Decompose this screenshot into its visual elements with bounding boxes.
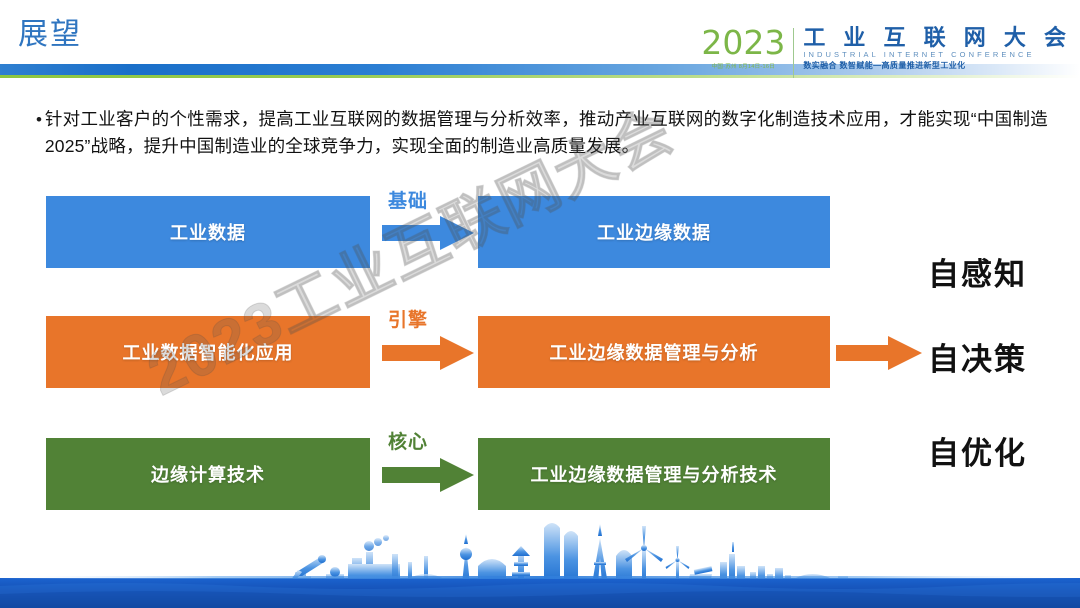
arrow-right-icon-outcome [836, 336, 922, 370]
outcome-self-decision: 自决策 [928, 334, 1027, 379]
diagram-box-intelligent-application: 工业数据智能化应用 [46, 316, 370, 388]
outcome-self-perception: 自感知 [928, 249, 1027, 294]
arrow-label-foundation: 基础 [388, 186, 428, 213]
skyline-illustration [0, 516, 1080, 608]
diagram-box-edge-computing-technology: 边缘计算技术 [46, 438, 370, 510]
diagram-box-industrial-edge-data: 工业边缘数据 [478, 196, 830, 268]
arrow-label-core: 核心 [388, 427, 428, 454]
diagram-box-edge-data-management-analysis-technology: 工业边缘数据管理与分析技术 [478, 438, 830, 510]
footer-skyline [0, 516, 1080, 608]
diagram-box-edge-data-management-analysis: 工业边缘数据管理与分析 [478, 316, 830, 388]
arrow-right-icon-row2 [382, 336, 474, 370]
slide-canvas: 展望 2023 中国·苏州 8月14日-16日 工 业 互 联 网 大 会 IN… [0, 0, 1080, 608]
arrow-label-engine: 引擎 [388, 305, 428, 332]
outcome-self-optimization: 自优化 [928, 428, 1027, 473]
diagram-box-industrial-data: 工业数据 [46, 196, 370, 268]
arrow-right-icon-row3 [382, 458, 474, 492]
arrow-right-icon-row1 [382, 216, 474, 250]
